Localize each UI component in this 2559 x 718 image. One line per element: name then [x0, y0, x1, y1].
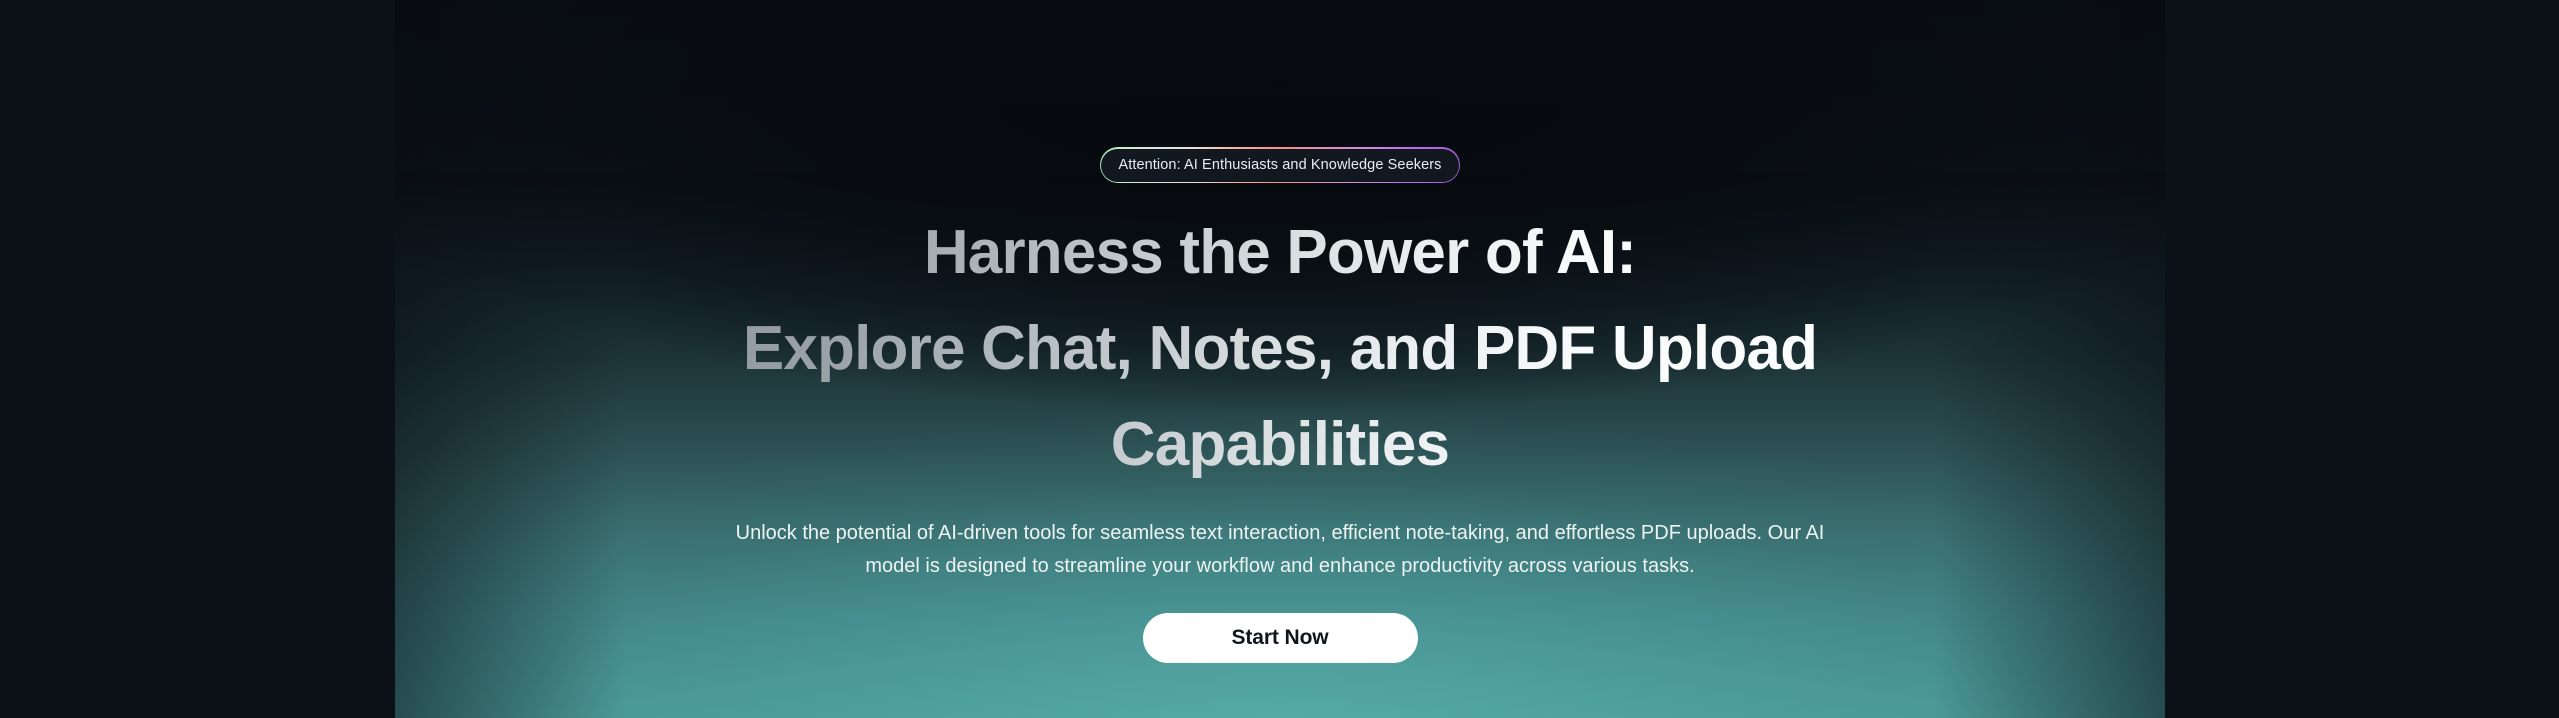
hero-content: Attention: AI Enthusiasts and Knowledge …: [395, 0, 2165, 718]
page-title-line-1: Harness the Power of AI:: [690, 205, 1870, 301]
page-root: Attention: AI Enthusiasts and Knowledge …: [0, 0, 2559, 718]
hero-subtitle: Unlock the potential of AI-driven tools …: [720, 517, 1840, 583]
eyebrow-badge-label: Attention: AI Enthusiasts and Knowledge …: [1118, 158, 1441, 173]
eyebrow-badge-inner: Attention: AI Enthusiasts and Knowledge …: [1101, 149, 1458, 182]
eyebrow-badge[interactable]: Attention: AI Enthusiasts and Knowledge …: [1100, 147, 1460, 183]
page-title-line-3: Capabilities: [690, 397, 1870, 493]
start-now-button[interactable]: Start Now: [1143, 613, 1418, 663]
page-title: Harness the Power of AI: Explore Chat, N…: [690, 205, 1870, 493]
hero-section: Attention: AI Enthusiasts and Knowledge …: [395, 0, 2165, 718]
page-title-line-2: Explore Chat, Notes, and PDF Upload: [690, 301, 1870, 397]
